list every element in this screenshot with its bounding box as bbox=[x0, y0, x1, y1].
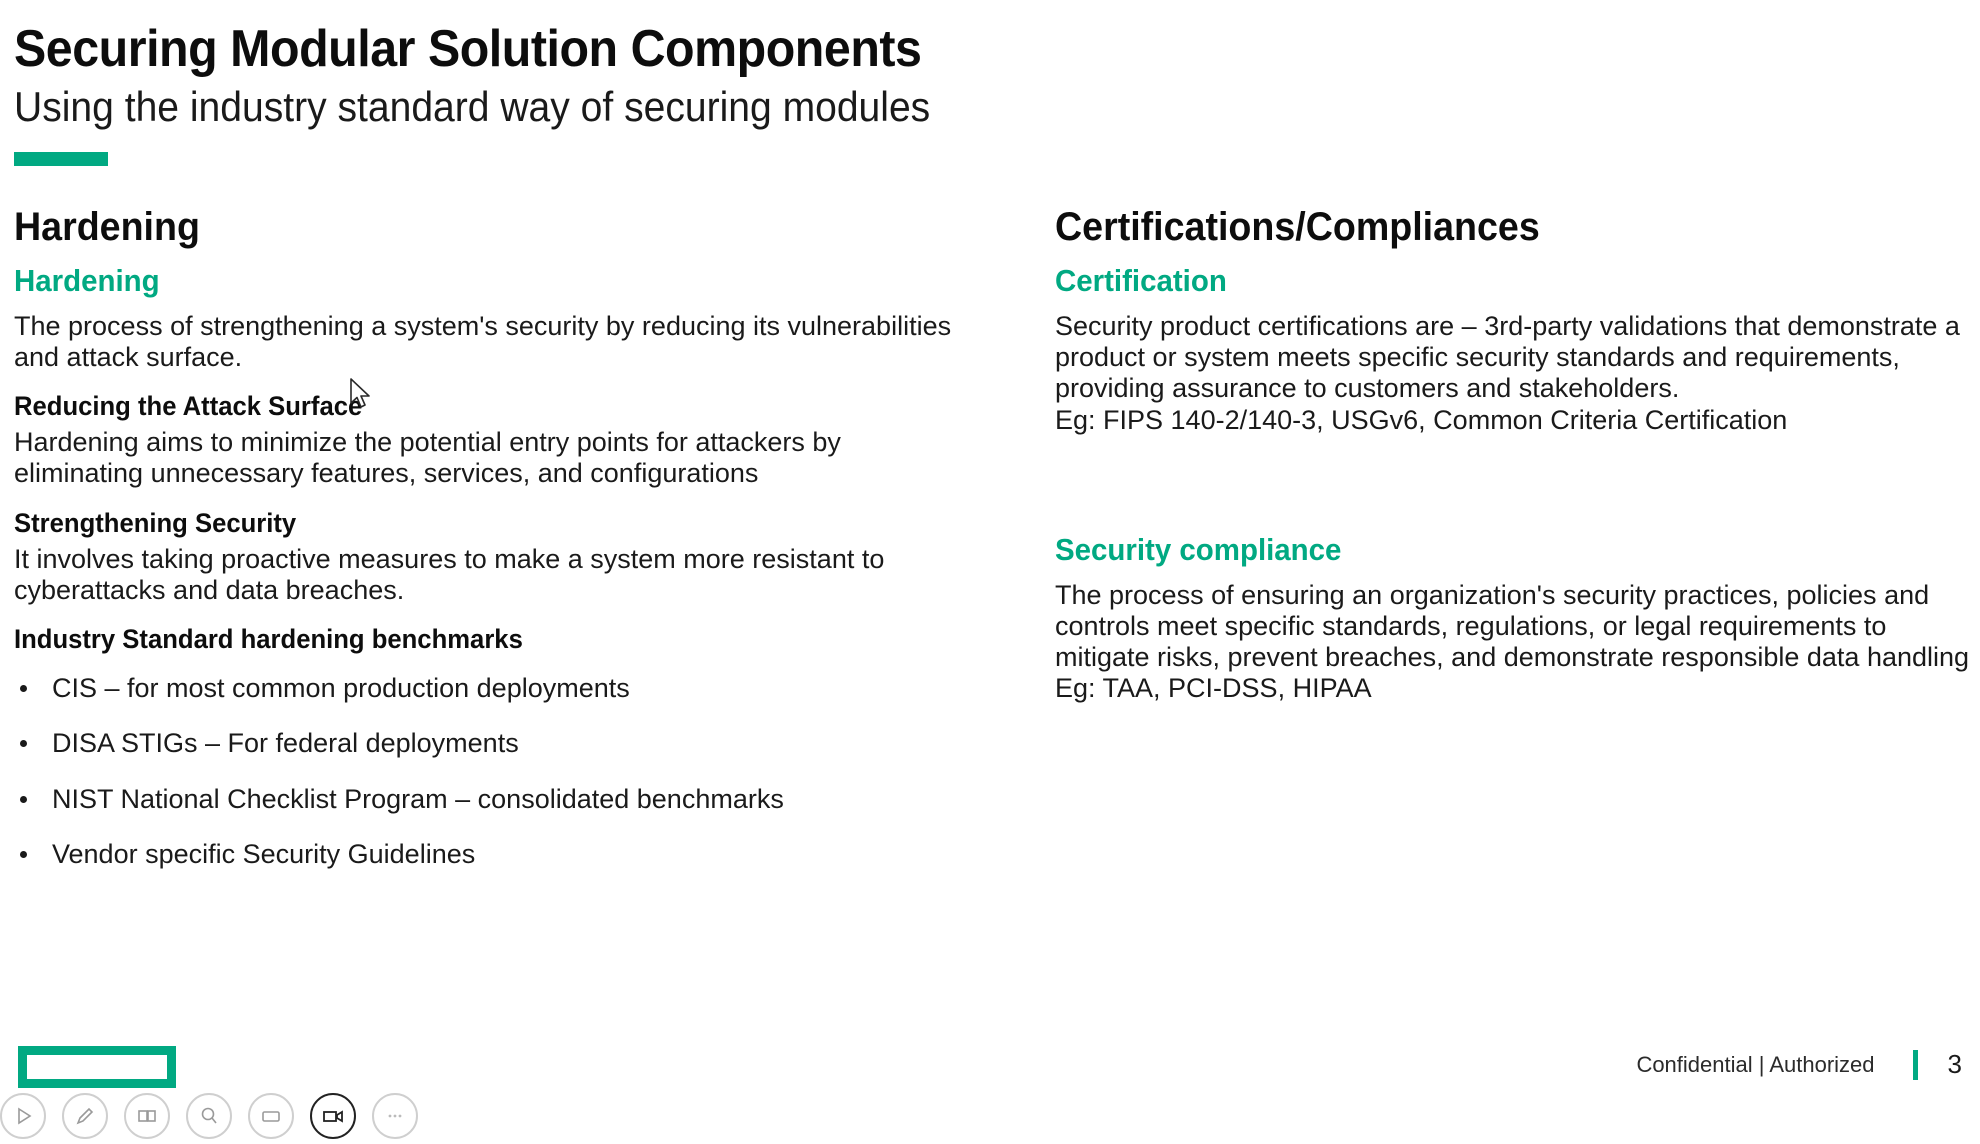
certification-subheading: Certification bbox=[1055, 263, 1934, 299]
bullet-icon bbox=[20, 851, 27, 858]
security-compliance-subheading: Security compliance bbox=[1055, 532, 1934, 568]
hpe-logo bbox=[18, 1046, 176, 1088]
list-item-label: NIST National Checklist Program – consol… bbox=[52, 784, 784, 814]
classification-label: Confidential | Authorized bbox=[1636, 1052, 1874, 1078]
subtitles-button[interactable] bbox=[248, 1093, 294, 1139]
slide-header: Securing Modular Solution Components Usi… bbox=[14, 22, 1960, 130]
zoom-button[interactable] bbox=[186, 1093, 232, 1139]
benchmarks-heading: Industry Standard hardening benchmarks bbox=[14, 624, 926, 656]
hardening-subheading: Hardening bbox=[14, 263, 926, 299]
right-column-heading: Certifications/Compliances bbox=[1055, 205, 1925, 249]
play-slideshow-button[interactable] bbox=[0, 1093, 46, 1139]
page-subtitle: Using the industry standard way of secur… bbox=[14, 83, 1824, 130]
slide-canvas: Securing Modular Solution Components Usi… bbox=[0, 0, 1980, 1116]
list-item: Vendor specific Security Guidelines bbox=[14, 838, 974, 870]
reducing-attack-surface-text: Hardening aims to minimize the potential… bbox=[14, 427, 974, 490]
bullet-icon bbox=[20, 685, 27, 692]
section-spacer bbox=[1055, 436, 1980, 532]
right-column: Certifications/Compliances Certification… bbox=[1055, 205, 1980, 705]
left-column-heading: Hardening bbox=[14, 205, 916, 249]
page-number: 3 bbox=[1948, 1049, 1962, 1080]
ellipsis-icon bbox=[384, 1105, 406, 1127]
page-title: Securing Modular Solution Components bbox=[14, 22, 1824, 77]
footer-divider bbox=[1913, 1050, 1918, 1080]
security-compliance-example: Eg: TAA, PCI-DSS, HIPAA bbox=[1055, 673, 1980, 704]
pen-annotate-button[interactable] bbox=[62, 1093, 108, 1139]
pen-icon bbox=[74, 1105, 96, 1127]
certification-definition: Security product certifications are – 3r… bbox=[1055, 311, 1980, 405]
more-options-button[interactable] bbox=[372, 1093, 418, 1139]
benchmarks-list: CIS – for most common production deploym… bbox=[14, 672, 974, 871]
list-item-label: CIS – for most common production deploym… bbox=[52, 673, 630, 703]
layout-icon bbox=[136, 1105, 158, 1127]
footer-right: Confidential | Authorized 3 bbox=[1636, 1049, 1962, 1080]
strengthening-security-text: It involves taking proactive measures to… bbox=[14, 544, 974, 607]
play-icon bbox=[12, 1105, 34, 1127]
list-item-label: Vendor specific Security Guidelines bbox=[52, 839, 475, 869]
list-item: NIST National Checklist Program – consol… bbox=[14, 783, 974, 815]
accent-rule bbox=[14, 152, 108, 166]
list-item: CIS – for most common production deploym… bbox=[14, 672, 974, 704]
reducing-attack-surface-heading: Reducing the Attack Surface bbox=[14, 391, 926, 423]
bullet-icon bbox=[20, 796, 27, 803]
hardening-definition: The process of strengthening a system's … bbox=[14, 311, 974, 374]
bullet-icon bbox=[20, 740, 27, 747]
magnifier-icon bbox=[198, 1105, 220, 1127]
left-column: Hardening Hardening The process of stren… bbox=[14, 205, 974, 894]
list-item-label: DISA STIGs – For federal deployments bbox=[52, 728, 519, 758]
security-compliance-definition: The process of ensuring an organization'… bbox=[1055, 580, 1980, 674]
caption-icon bbox=[260, 1105, 282, 1127]
strengthening-security-heading: Strengthening Security bbox=[14, 508, 926, 540]
camera-icon bbox=[322, 1105, 344, 1127]
presenter-toolbar[interactable] bbox=[0, 1088, 420, 1144]
presenter-view-button[interactable] bbox=[124, 1093, 170, 1139]
certification-example: Eg: FIPS 140-2/140-3, USGv6, Common Crit… bbox=[1055, 405, 1980, 436]
camera-button[interactable] bbox=[310, 1093, 356, 1139]
list-item: DISA STIGs – For federal deployments bbox=[14, 727, 974, 759]
